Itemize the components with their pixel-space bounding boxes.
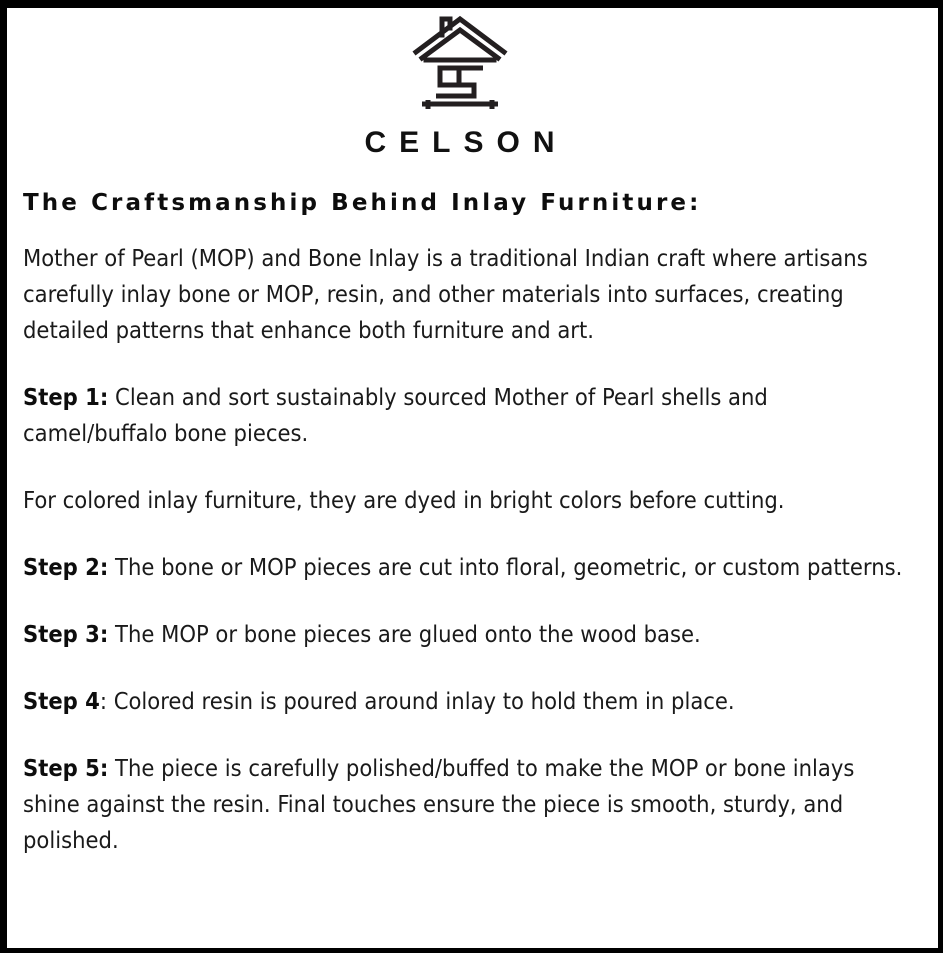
page-title: The Craftsmanship Behind Inlay Furniture… — [23, 191, 903, 216]
paragraph-note: For colored inlay furniture, they are dy… — [23, 482, 903, 518]
article-body: Mother of Pearl (MOP) and Bone Inlay is … — [23, 240, 903, 858]
step-3-text: The MOP or bone pieces are glued onto th… — [108, 620, 700, 648]
paragraph-step-5: Step 5: The piece is carefully polished/… — [23, 750, 903, 858]
document-card: CELSON The Craftsmanship Behind Inlay Fu… — [0, 0, 943, 953]
step-2-text: The bone or MOP pieces are cut into flor… — [108, 553, 902, 581]
step-5-text: The piece is carefully polished/buffed t… — [23, 754, 854, 854]
step-5-label: Step 5: — [23, 754, 108, 782]
step-4-label: Step 4 — [23, 687, 100, 715]
paragraph-step-2: Step 2: The bone or MOP pieces are cut i… — [23, 549, 903, 585]
step-1-text: Clean and sort sustainably sourced Mothe… — [23, 383, 768, 447]
paragraph-step-1: Step 1: Clean and sort sustainably sourc… — [23, 379, 903, 451]
paragraph-intro: Mother of Pearl (MOP) and Bone Inlay is … — [23, 240, 903, 348]
brand-header: CELSON — [16, 8, 903, 158]
step-2-label: Step 2: — [23, 553, 108, 581]
paragraph-step-3: Step 3: The MOP or bone pieces are glued… — [23, 616, 903, 652]
step-4-text: : Colored resin is poured around inlay t… — [100, 687, 735, 715]
document-inner: CELSON The Craftsmanship Behind Inlay Fu… — [7, 8, 938, 948]
step-3-label: Step 3: — [23, 620, 108, 648]
step-1-label: Step 1: — [23, 383, 108, 411]
house-logo-icon — [412, 14, 508, 116]
brand-wordmark: CELSON — [16, 128, 903, 158]
paragraph-step-4: Step 4: Colored resin is poured around i… — [23, 683, 903, 719]
